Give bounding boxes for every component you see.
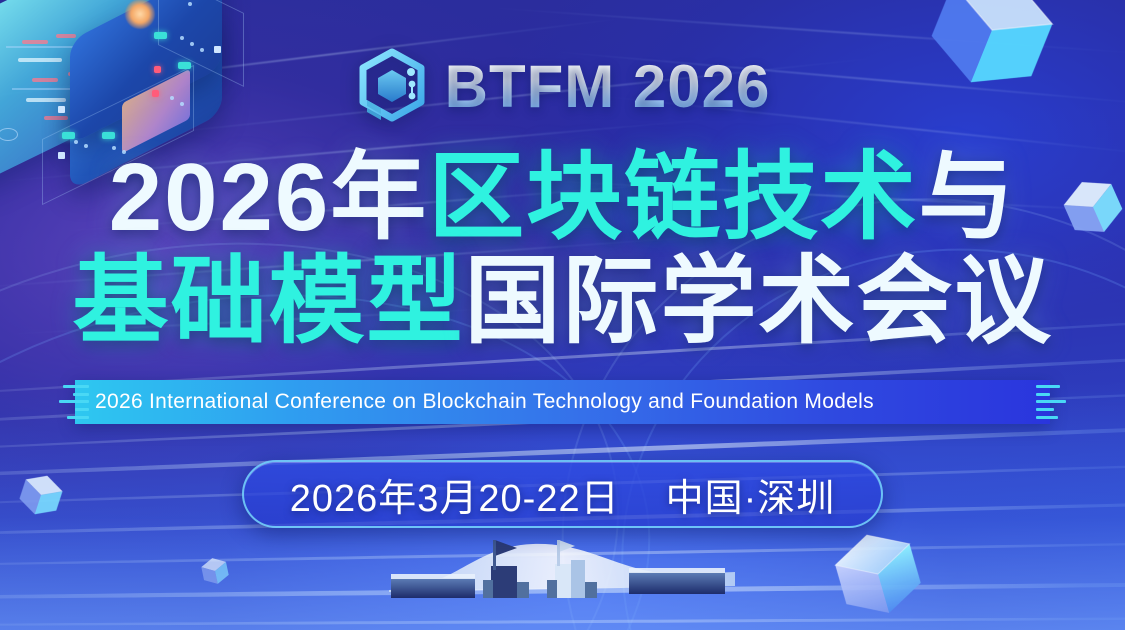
brand-lockup: BTFM 2026 [0, 48, 1125, 126]
title-line-2: 基础模型国际学术会议 [0, 250, 1125, 354]
conference-location: 中国·深圳 [666, 467, 836, 522]
hexagon-blockchain-icon [355, 48, 429, 126]
title-line2-conference: 国际学术会议 [465, 248, 1053, 355]
main-title: 2026年区块链技术与 基础模型国际学术会议 [0, 146, 1125, 354]
info-pill-wrap: 2026年3月20-22日 中国·深圳 [0, 460, 1125, 528]
subtitle-bar-wrap: 2026 International Conference on Blockch… [0, 380, 1125, 424]
date-location-pill: 2026年3月20-22日 中国·深圳 [242, 460, 884, 528]
subtitle-text: 2026 International Conference on Blockch… [75, 390, 874, 414]
bar-ticks-right [1036, 380, 1066, 424]
title-line2-foundation-models: 基础模型 [73, 248, 465, 355]
subtitle-bar: 2026 International Conference on Blockch… [75, 380, 1050, 424]
title-line1-year: 2026年 [109, 144, 429, 251]
logo-text: BTFM 2026 [445, 57, 771, 117]
bar-ticks-left [59, 380, 89, 424]
title-line-1: 2026年区块链技术与 [0, 146, 1125, 250]
title-line1-and: 与 [918, 144, 1016, 251]
title-line1-blockchain: 区块链技术 [428, 144, 918, 251]
conference-date: 2026年3月20-22日 [290, 467, 620, 522]
conference-banner: BTFM 2026 2026年区块链技术与 基础模型国际学术会议 2026 In… [0, 0, 1125, 630]
